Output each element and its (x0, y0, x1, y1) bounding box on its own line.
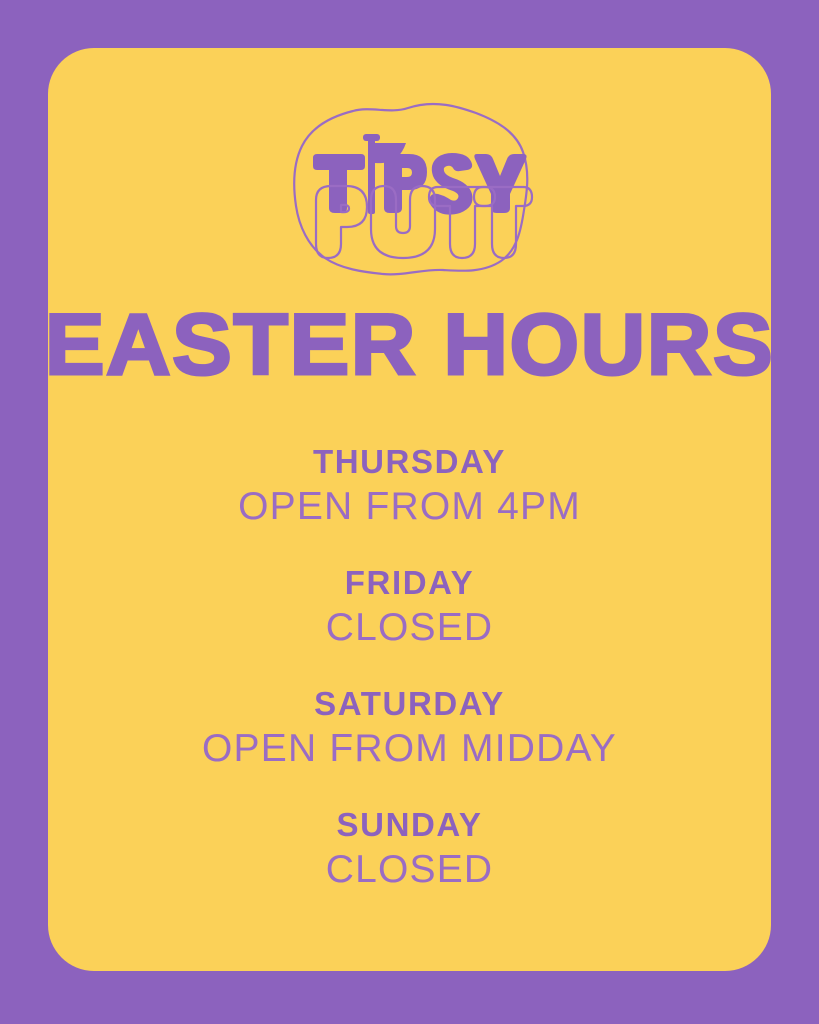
hours-row-sunday: SUNDAY CLOSED (0, 805, 819, 895)
day-label-sunday: SUNDAY (0, 805, 819, 845)
hours-row-thursday: THURSDAY OPEN FROM 4PM (0, 442, 819, 532)
day-label-friday: FRIDAY (0, 563, 819, 603)
easter-hours-poster: EASTER HOURS THURSDAY OPEN FROM 4PM FRID… (0, 0, 819, 1024)
day-hours-thursday: OPEN FROM 4PM (0, 482, 819, 532)
day-label-thursday: THURSDAY (0, 442, 819, 482)
golf-flag-pole-top (363, 134, 380, 141)
day-hours-saturday: OPEN FROM MIDDAY (0, 724, 819, 774)
day-hours-sunday: CLOSED (0, 845, 819, 895)
hours-row-saturday: SATURDAY OPEN FROM MIDDAY (0, 684, 819, 774)
hours-list: THURSDAY OPEN FROM 4PM FRIDAY CLOSED SAT… (0, 442, 819, 895)
hours-row-friday: FRIDAY CLOSED (0, 563, 819, 653)
day-hours-friday: CLOSED (0, 603, 819, 653)
page-title: EASTER HOURS (0, 299, 819, 391)
day-label-saturday: SATURDAY (0, 684, 819, 724)
tipsy-putt-logo (283, 100, 533, 280)
